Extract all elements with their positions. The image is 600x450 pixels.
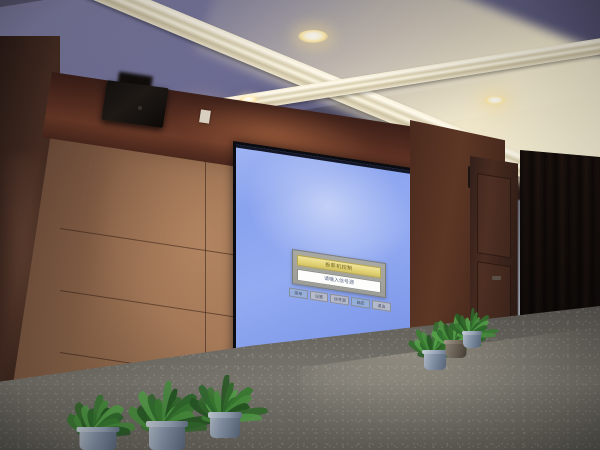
potted-plant-2	[132, 378, 202, 450]
seam-v-1	[205, 131, 206, 391]
projected-toolbar-item-0[interactable]: 菜单	[289, 288, 308, 300]
potted-plant-1	[62, 392, 134, 450]
plant-pot-rim	[146, 421, 188, 427]
plant-pot-rim	[462, 331, 483, 335]
door-handle[interactable]	[492, 276, 501, 280]
plant-pot	[463, 331, 481, 348]
door-panel-upper	[477, 173, 511, 258]
projected-toolbar-item-3[interactable]: 确定	[351, 297, 370, 309]
projected-toolbar-item-2[interactable]: 信号源	[330, 294, 349, 306]
plant-pot	[80, 427, 117, 450]
downlight-2-icon	[484, 96, 506, 105]
plant-pot-rim	[208, 412, 243, 418]
room-photo-scene: 投影机控制 请输入信号源 菜单设置信号源确定退出 投影时间 04:09	[0, 0, 600, 450]
wall-control-plate[interactable]	[199, 109, 211, 123]
downlight-1-icon	[298, 30, 328, 43]
ceiling-speaker	[101, 80, 168, 128]
speaker-badge	[138, 106, 142, 110]
plant-pot	[149, 421, 185, 450]
plant-pot	[210, 412, 240, 438]
potted-plant-6	[455, 306, 489, 348]
plant-pot-rim	[77, 427, 120, 432]
potted-plant-3	[196, 372, 254, 438]
projected-toolbar-item-4[interactable]: 退出	[372, 300, 391, 312]
projected-toolbar-item-1[interactable]: 设置	[310, 291, 329, 303]
